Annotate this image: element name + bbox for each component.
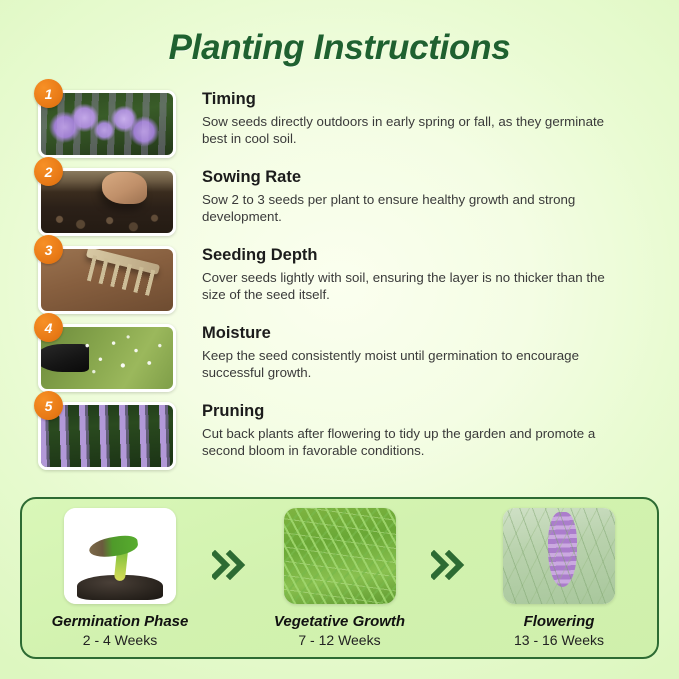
growth-timeline-card: Germination Phase 2 - 4 Weeks Vegetative… xyxy=(20,497,659,659)
step-description: Cover seeds lightly with soil, ensuring … xyxy=(202,269,622,304)
list-item: 1 Timing Sow seeds directly outdoors in … xyxy=(38,86,653,164)
green-foliage-photo xyxy=(284,508,396,604)
step-text-block: Sowing Rate Sow 2 to 3 seeds per plant t… xyxy=(188,164,653,226)
timeline-phase-flowering: Flowering 13 - 16 Weeks xyxy=(475,508,643,648)
timeline-phase-germination: Germination Phase 2 - 4 Weeks xyxy=(36,508,204,648)
step-title: Sowing Rate xyxy=(202,167,653,188)
hand-sowing-seeds-in-soil-photo xyxy=(41,171,173,233)
step-description: Cut back plants after flowering to tidy … xyxy=(202,425,622,460)
double-chevron-right-icon xyxy=(427,550,471,580)
step-thumbnail-wrap: 4 xyxy=(38,320,188,392)
phase-image xyxy=(503,508,615,604)
step-description: Sow seeds directly outdoors in early spr… xyxy=(202,113,622,148)
step-number-badge: 4 xyxy=(34,313,63,342)
step-thumbnail-wrap: 3 xyxy=(38,242,188,314)
sprout-leaf-shape xyxy=(88,533,139,559)
sprouting-seed-photo xyxy=(64,508,176,604)
phase-label: Flowering xyxy=(524,613,595,630)
step-text-block: Moisture Keep the seed consistently mois… xyxy=(188,320,653,382)
lavender-flower-field-photo xyxy=(41,405,173,467)
step-number-badge: 3 xyxy=(34,235,63,264)
step-text-block: Pruning Cut back plants after flowering … xyxy=(188,398,653,460)
phase-image xyxy=(64,508,176,604)
step-number-badge: 2 xyxy=(34,157,63,186)
step-description: Keep the seed consistently moist until g… xyxy=(202,347,622,382)
purple-flower-spikes-photo xyxy=(41,93,173,155)
step-title: Timing xyxy=(202,89,653,110)
phase-image xyxy=(284,508,396,604)
list-item: 4 Moisture Keep the seed consistently mo… xyxy=(38,320,653,398)
phase-duration: 2 - 4 Weeks xyxy=(83,632,157,648)
double-chevron-right-icon xyxy=(208,550,252,580)
phase-duration: 7 - 12 Weeks xyxy=(298,632,380,648)
step-description: Sow 2 to 3 seeds per plant to ensure hea… xyxy=(202,191,622,226)
hose-nozzle-watering-photo xyxy=(41,327,173,389)
rake-on-soil-photo xyxy=(41,249,173,311)
step-title: Seeding Depth xyxy=(202,245,653,266)
step-text-block: Timing Sow seeds directly outdoors in ea… xyxy=(188,86,653,148)
phase-label: Vegetative Growth xyxy=(274,613,405,630)
timeline-phase-vegetative: Vegetative Growth 7 - 12 Weeks xyxy=(256,508,424,648)
step-thumbnail-wrap: 1 xyxy=(38,86,188,158)
phase-label: Germination Phase xyxy=(52,613,189,630)
list-item: 5 Pruning Cut back plants after flowerin… xyxy=(38,398,653,476)
step-text-block: Seeding Depth Cover seeds lightly with s… xyxy=(188,242,653,304)
purple-blooming-plant-photo xyxy=(503,508,615,604)
step-number-badge: 1 xyxy=(34,79,63,108)
step-title: Pruning xyxy=(202,401,653,422)
infographic-page: Planting Instructions 1 Timing Sow seeds… xyxy=(0,0,679,679)
list-item: 3 Seeding Depth Cover seeds lightly with… xyxy=(38,242,653,320)
list-item: 2 Sowing Rate Sow 2 to 3 seeds per plant… xyxy=(38,164,653,242)
step-title: Moisture xyxy=(202,323,653,344)
step-number-badge: 5 xyxy=(34,391,63,420)
step-thumbnail-wrap: 5 xyxy=(38,398,188,470)
page-title: Planting Instructions xyxy=(0,0,679,68)
planting-steps-list: 1 Timing Sow seeds directly outdoors in … xyxy=(0,86,679,476)
step-thumbnail-wrap: 2 xyxy=(38,164,188,236)
phase-duration: 13 - 16 Weeks xyxy=(514,632,604,648)
